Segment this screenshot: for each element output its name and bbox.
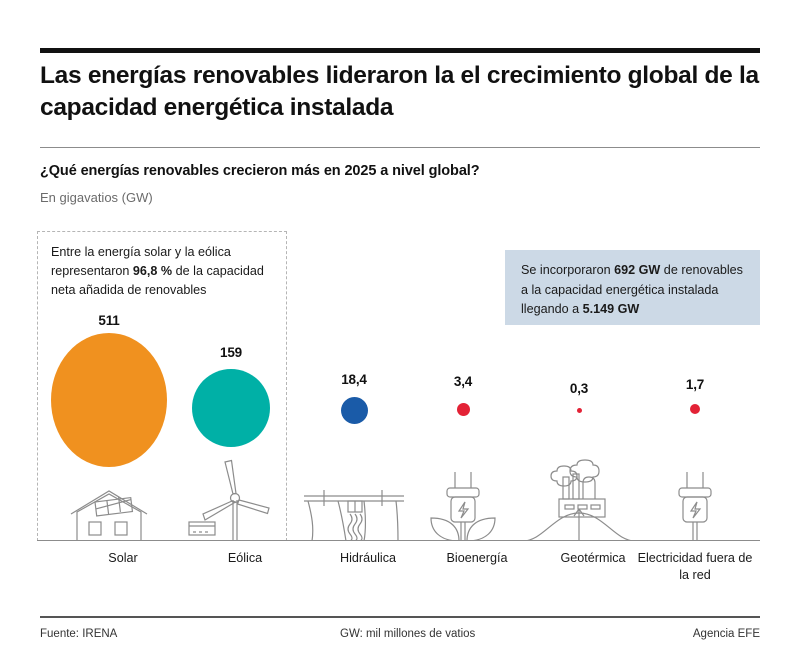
geothermal-plant-icon <box>521 453 637 541</box>
offgrid-plug-icon <box>637 458 753 541</box>
infographic-page: Las energías renovables lideraron la el … <box>0 0 800 670</box>
footer-rule <box>40 616 760 618</box>
cat-label-bioenergy: Bioenergía <box>405 550 549 567</box>
cat-label-hydro: Hidráulica <box>296 550 440 567</box>
cat-label-solar: Solar <box>51 550 195 567</box>
bubble-hydro <box>341 397 368 424</box>
value-label-offgrid: 1,7 <box>637 377 753 392</box>
info-text-part-1: Se incorporaron <box>521 263 614 277</box>
chart-subtitle: ¿Qué energías renovables crecieron más e… <box>40 163 479 179</box>
value-label-geothermal: 0,3 <box>521 381 637 396</box>
header-top-rule <box>40 48 760 53</box>
bubble-wrap-geothermal <box>521 398 637 422</box>
bubble-geothermal <box>577 408 582 413</box>
bubble-offgrid <box>690 404 700 414</box>
solar-wind-annotation-text: Entre la energía solar y la eólica repre… <box>51 243 279 300</box>
chart-units-label: En gigavatios (GW) <box>40 190 153 205</box>
bubble-wrap-bioenergy <box>405 392 521 426</box>
baseline-ground-line <box>37 540 760 541</box>
total-capacity-text: Se incorporaron 692 GW de renovables a l… <box>521 261 749 320</box>
annotation-highlight-percent: 96,8 % <box>133 264 172 278</box>
bubble-wrap-hydro <box>296 390 412 430</box>
hydro-dam-icon <box>296 468 412 541</box>
value-label-hydro: 18,4 <box>296 372 412 387</box>
bubble-wrap-offgrid <box>637 394 753 424</box>
footer-agency: Agencia EFE <box>693 628 760 640</box>
cat-label-wind: Eólica <box>173 550 317 567</box>
info-highlight-added: 692 GW <box>614 263 660 277</box>
page-title: Las energías renovables lideraron la el … <box>40 60 770 124</box>
value-label-bioenergy: 3,4 <box>405 374 521 389</box>
bubble-bioenergy <box>457 403 470 416</box>
info-highlight-total: 5.149 GW <box>583 302 640 316</box>
footer-source: Fuente: IRENA <box>40 628 117 640</box>
cat-label-offgrid: Electricidad fuera de la red <box>635 550 755 584</box>
bioenergy-plug-leaf-icon <box>405 458 521 541</box>
header-divider-rule <box>40 147 760 148</box>
cat-label-geothermal: Geotérmica <box>521 550 665 567</box>
footer-note: GW: mil millones de vatios <box>340 628 475 640</box>
